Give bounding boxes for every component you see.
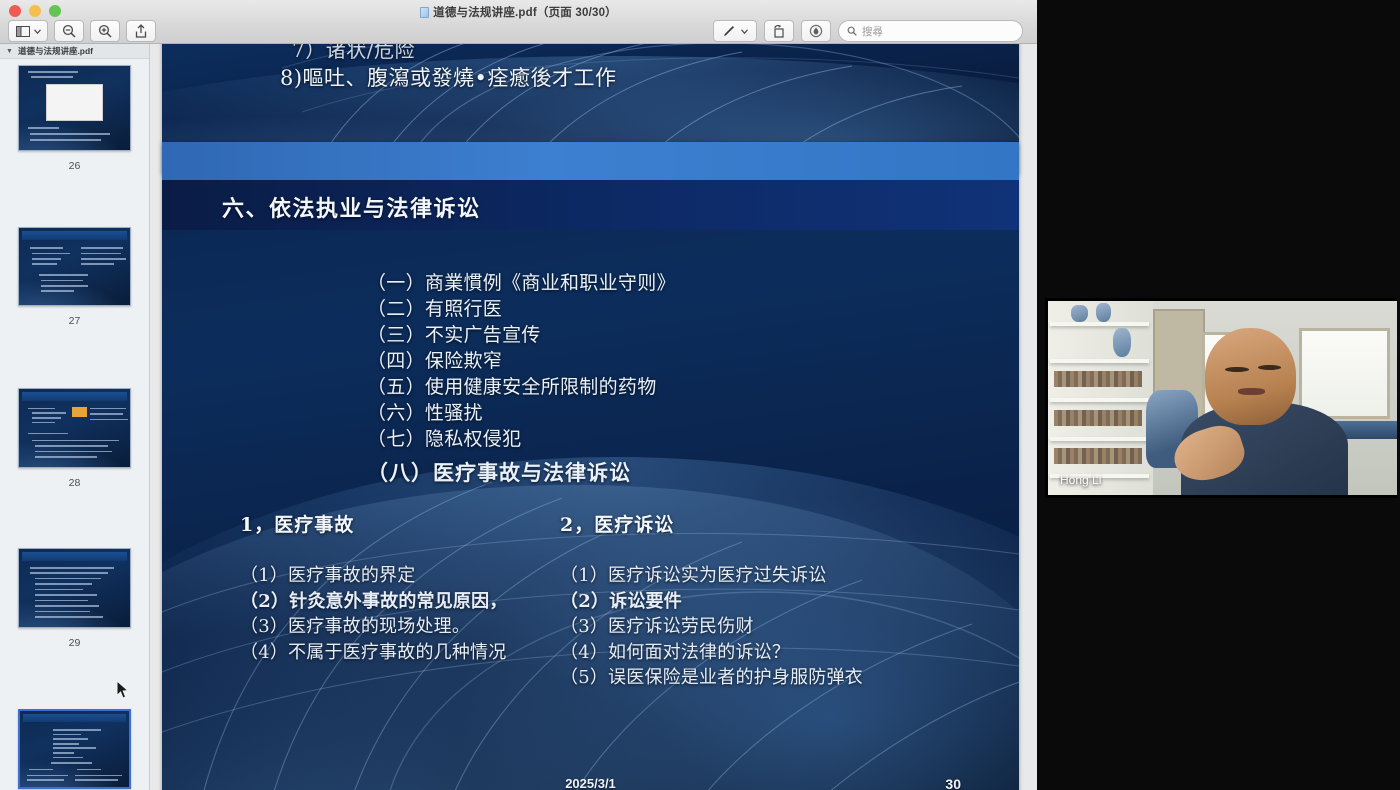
thumbnail-page-number: 26: [63, 159, 87, 173]
thumbnail-page-number: 29: [63, 636, 87, 650]
slide-column-left: 1，医疗事故 （1）医疗事故的界定 （2）针灸意外事故的常见原因， （3）医疗事…: [240, 510, 508, 665]
toc-item: （一）商業慣例《商业和职业守则》: [367, 270, 676, 296]
column-item: （3）医疗事故的现场处理。: [240, 614, 508, 640]
slide29-visible-line: 8)嘔吐、腹瀉或發燒•痊癒後才工作: [280, 62, 616, 92]
toc-item: （三）不实广告宣传: [367, 322, 676, 348]
document-icon: [420, 7, 429, 18]
column-item: （2）针灸意外事故的常见原因，: [240, 589, 508, 615]
window-right: [1299, 328, 1390, 419]
toc-item: （七）隐私权侵犯: [367, 426, 676, 452]
slide-page-30[interactable]: 六、依法执业与法律诉讼 （一）商業慣例《商业和职业守则》 （二）有照行医 （三）…: [162, 142, 1019, 790]
toc-item: （五）使用健康安全所限制的药物: [367, 374, 676, 400]
toc-item: （二）有照行医: [367, 296, 676, 322]
search-placeholder: 搜尋: [862, 24, 883, 39]
rotate-icon: [772, 24, 786, 38]
thumbnail-item-28[interactable]: 28: [0, 388, 149, 490]
sidebar-icon: [16, 26, 30, 37]
thumbnail-item-26[interactable]: 26: [0, 65, 149, 173]
slide-column-right: 2，医疗诉讼 （1）医疗诉讼实为医疗过失诉讼 （2）诉讼要件 （3）医疗诉讼劳民…: [560, 510, 863, 691]
slide-toc-list: （一）商業慣例《商业和职业守则》 （二）有照行医 （三）不实广告宣传 （四）保险…: [367, 270, 676, 486]
slide29-clipped-line: 7）诸状/危险: [292, 44, 415, 63]
column-item: （4）不属于医疗事故的几种情况: [240, 640, 508, 666]
column-item: （4）如何面对法律的诉讼？: [560, 640, 863, 666]
thumbnail-image-30[interactable]: [18, 709, 131, 789]
webcam-scene: [1048, 301, 1397, 495]
participant-name-label: Hong Li: [1060, 473, 1101, 487]
video-feed: [1048, 301, 1397, 495]
column-heading: 2，医疗诉讼: [560, 510, 863, 537]
document-scroll-area[interactable]: 7）诸状/危险 8)嘔吐、腹瀉或發燒•痊癒後才工作 2025/3/1 29: [150, 44, 1037, 790]
sidebar-toggle-button[interactable]: [8, 20, 48, 42]
thumbnail-item-27[interactable]: 27: [0, 227, 149, 328]
toc-item: （八）医疗事故与法律诉讼: [367, 460, 676, 486]
zoom-in-button[interactable]: [90, 20, 120, 42]
thumbnail-page-number: 28: [63, 476, 87, 490]
thumbnail-page-number: 27: [63, 314, 87, 328]
column-item: （1）医疗诉讼实为医疗过失诉讼: [560, 563, 863, 589]
disclosure-triangle-icon[interactable]: ▼: [6, 48, 13, 55]
person-head: [1205, 328, 1296, 425]
toolbar-right: 搜尋: [713, 20, 1023, 42]
thumbnail-image-29[interactable]: [18, 548, 131, 628]
window-title: 道德与法规讲座.pdf（页面 30/30）: [0, 4, 1037, 20]
sidebar-header[interactable]: ▼ 道德与法规讲座.pdf: [0, 44, 149, 59]
bookshelf: [1048, 301, 1153, 495]
slide30-date: 2025/3/1: [162, 776, 1019, 790]
video-panel: Hong Li: [1037, 0, 1400, 790]
sidebar-filename: 道德与法规讲座.pdf: [18, 45, 93, 57]
share-button[interactable]: [126, 20, 156, 42]
preview-window: 道德与法规讲座.pdf（页面 30/30）: [0, 0, 1037, 790]
participant-video-tile[interactable]: Hong Li: [1045, 298, 1397, 498]
thumbnail-image-27[interactable]: [18, 227, 131, 306]
toc-item: （六）性骚扰: [367, 400, 676, 426]
toc-item: （四）保险欺窄: [367, 348, 676, 374]
window-title-text: 道德与法规讲座.pdf（页面 30/30）: [433, 7, 617, 19]
share-icon: [135, 24, 147, 38]
zoom-out-icon: [62, 24, 76, 38]
markup-button[interactable]: [713, 20, 757, 42]
column-item: （5）误医保险是业者的护身服防弹衣: [560, 665, 863, 691]
highlight-icon: [809, 24, 823, 38]
chevron-down-icon: [741, 29, 748, 34]
slide-title: 六、依法执业与法律诉讼: [222, 191, 481, 223]
annotate-button[interactable]: [801, 20, 831, 42]
rotate-button[interactable]: [764, 20, 794, 42]
column-item: （2）诉讼要件: [560, 589, 863, 615]
thumbnail-image-28[interactable]: [18, 388, 131, 468]
window-titlebar[interactable]: 道德与法规讲座.pdf（页面 30/30）: [0, 0, 1037, 44]
screen-root: 道德与法规讲座.pdf（页面 30/30）: [0, 0, 1400, 790]
chevron-down-icon: [34, 29, 41, 34]
slide-top-band: [162, 142, 1019, 180]
thumbnail-item-30[interactable]: 30: [0, 709, 149, 790]
toolbar-left: [8, 20, 156, 42]
thumbnail-item-29[interactable]: 29: [0, 548, 149, 650]
slide30-footer: 2025/3/1 30: [162, 776, 1019, 790]
column-item: （1）医疗事故的界定: [240, 563, 508, 589]
column-item: （3）医疗诉讼劳民伤财: [560, 614, 863, 640]
thumbnail-image-26[interactable]: [18, 65, 131, 151]
thumbnail-sidebar[interactable]: ▼ 道德与法规讲座.pdf 26: [0, 44, 150, 790]
zoom-in-icon: [98, 24, 112, 38]
search-input[interactable]: 搜尋: [838, 20, 1023, 42]
zoom-out-button[interactable]: [54, 20, 84, 42]
pen-icon: [722, 24, 736, 38]
slide30-page-number: 30: [945, 776, 961, 790]
column-heading: 1，医疗事故: [240, 510, 508, 537]
mouse-cursor-icon: [116, 680, 130, 699]
search-icon: [847, 26, 857, 36]
